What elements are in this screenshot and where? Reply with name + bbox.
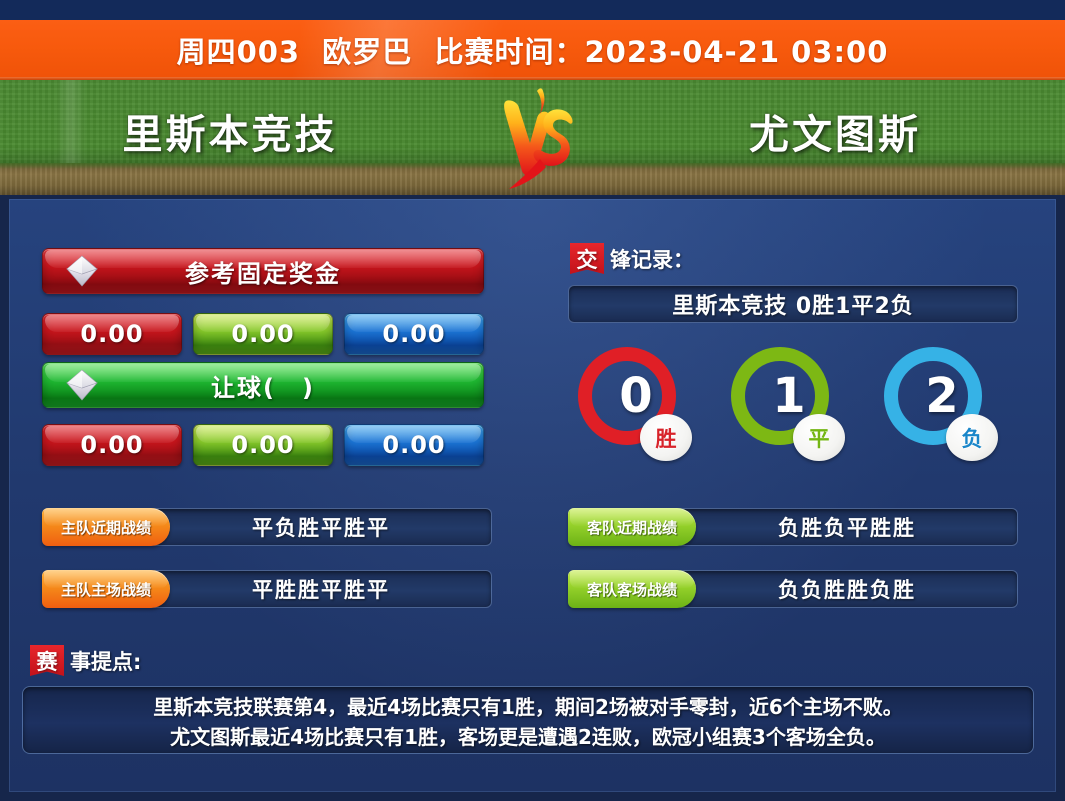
match-preview-page: 周四003 欧罗巴 比赛时间：2023-04-21 03:00 里斯本竞技 尤文… [0,0,1065,801]
h2h-section-label: 交 锋记录： [570,243,694,274]
h2h-ring-losses: 2 负 [878,346,998,481]
away-recent-form-row: 负胜负平胜胜 客队近期战绩 [568,508,1018,546]
handicap-odds-draw-button[interactable]: 0.00 [193,424,333,466]
h2h-ring-wins: 0 胜 [572,346,692,481]
away-away-form-row: 负负胜胜负胜 客队客场战绩 [568,570,1018,608]
vs-icon [480,85,590,195]
handicap-odds-loss-button[interactable]: 0.00 [344,424,484,466]
h2h-losses-badge: 负 [946,414,998,461]
home-recent-form-value: 平负胜平胜平 [150,508,492,546]
away-away-form-value: 负负胜胜负胜 [676,570,1018,608]
h2h-draws-badge: 平 [793,414,845,461]
fixed-bonus-title-bar: 参考固定奖金 [42,248,484,294]
diamond-gem-icon [65,368,99,402]
h2h-ring-draws: 1 平 [725,346,845,481]
tips-line: 尤文图斯最近4场比赛只有1胜，客场更是遭遇2连败，欧冠小组赛3个客场全负。 [170,721,886,750]
home-team-name: 里斯本竞技 [20,102,440,160]
fixed-odds-loss-button[interactable]: 0.00 [344,313,484,355]
home-home-form-row: 平胜胜平胜平 主队主场战绩 [42,570,492,608]
handicap-title-label: 让球( ) [211,368,315,403]
home-recent-form-row: 平负胜平胜平 主队近期战绩 [42,508,492,546]
tips-flag-icon: 赛 [30,645,64,676]
fixed-bonus-title-label: 参考固定奖金 [185,254,341,289]
h2h-summary-field: 里斯本竞技 0胜1平2负 [568,285,1018,323]
tips-box: 里斯本竞技联赛第4，最近4场比赛只有1胜，期间2场被对手零封，近6个主场不败。 … [22,686,1034,754]
away-team-name: 尤文图斯 [625,102,1045,160]
home-recent-form-label: 主队近期战绩 [42,508,170,546]
home-home-form-value: 平胜胜平胜平 [150,570,492,608]
match-header-bar: 周四003 欧罗巴 比赛时间：2023-04-21 03:00 [0,20,1065,80]
fixed-odds-win-button[interactable]: 0.00 [42,313,182,355]
h2h-section-label-text: 锋记录： [610,244,694,274]
away-recent-form-value: 负胜负平胜胜 [676,508,1018,546]
tips-section-label: 赛 事提点: [30,645,141,676]
page-title: 周四003 欧罗巴 比赛时间：2023-04-21 03:00 [177,29,889,71]
away-recent-form-label: 客队近期战绩 [568,508,696,546]
home-home-form-label: 主队主场战绩 [42,570,170,608]
tips-section-label-text: 事提点: [70,646,141,676]
tips-line: 里斯本竞技联赛第4，最近4场比赛只有1胜，期间2场被对手零封，近6个主场不败。 [153,691,903,720]
h2h-flag-icon: 交 [570,243,604,274]
diamond-gem-icon [65,254,99,288]
fixed-odds-draw-button[interactable]: 0.00 [193,313,333,355]
handicap-odds-win-button[interactable]: 0.00 [42,424,182,466]
away-away-form-label: 客队客场战绩 [568,570,696,608]
h2h-wins-badge: 胜 [640,414,692,461]
handicap-title-bar: 让球( ) [42,362,484,408]
